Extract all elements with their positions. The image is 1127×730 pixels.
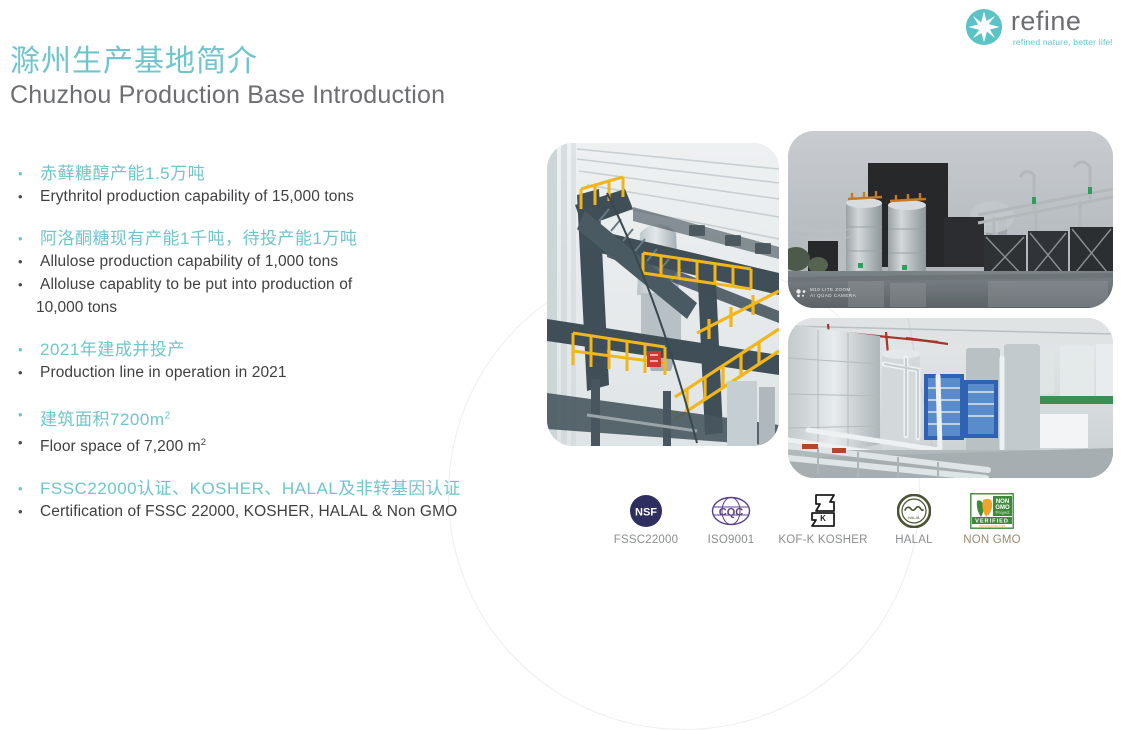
brand-logo: refine refined nature, better life! <box>965 8 1113 47</box>
svg-text:Project: Project <box>995 510 1010 515</box>
svg-text:nongmoproject.org: nongmoproject.org <box>979 524 1006 528</box>
bullet-group-floor-space: • 建筑面积7200m2 • Floor space of 7,200 m2 <box>14 404 534 458</box>
bullet-dot-icon: • <box>14 404 40 426</box>
cert-fssc22000: NSF FSSC22000 <box>600 492 692 546</box>
halal-seal-icon: HALAL <box>897 492 931 530</box>
svg-text:HALAL: HALAL <box>908 515 921 520</box>
bullet-text-en: Alloluse capablity to be put into produc… <box>40 274 352 296</box>
list-item: • FSSC22000认证、KOSHER、HALAL及非转基因认证 <box>14 478 534 500</box>
bullet-text-en: Certification of FSSC 22000, KOSHER, HAL… <box>40 501 457 523</box>
bullet-dot-icon: • <box>14 251 40 273</box>
bullet-dot-icon: • <box>14 501 40 523</box>
bullet-dot-icon: • <box>14 163 40 185</box>
bullet-dot-icon: • <box>14 186 40 208</box>
bullet-dot-icon: • <box>14 339 40 361</box>
cert-label: NON GMO <box>963 534 1021 546</box>
photo-watermark: M10 LITE ZOOM AI QUAD CAMERA <box>796 287 856 300</box>
bullet-group-erythritol: • 赤藓糖醇产能1.5万吨 • Erythritol production ca… <box>14 163 534 208</box>
cert-non-gmo: NON GMO Project VERIFIED nongmoproject.o… <box>952 492 1032 546</box>
bullet-text-en: Floor space of 7,200 m2 <box>40 432 206 458</box>
photo-tank-farm: M10 LITE ZOOM AI QUAD CAMERA <box>788 131 1113 308</box>
bullet-text-continuation: 10,000 tons <box>14 297 534 319</box>
certification-badges: NSF FSSC22000 CQC ISO9001 K KOF-K KOSHER <box>600 492 1032 546</box>
cqc-globe-icon: CQC <box>711 492 751 530</box>
list-item: • Certification of FSSC 22000, KOSHER, H… <box>14 501 534 523</box>
bullet-dot-icon: • <box>14 432 40 454</box>
brand-tagline: refined nature, better life! <box>1013 38 1113 47</box>
nsf-seal-icon: NSF <box>629 492 663 530</box>
page-title-en: Chuzhou Production Base Introduction <box>10 81 445 110</box>
watermark-line-2: AI QUAD CAMERA <box>810 293 856 300</box>
list-item: • 2021年建成并投产 <box>14 339 534 361</box>
bullet-text-en-inner: Floor space of 7,200 m2 <box>40 438 206 455</box>
bullet-group-production-line: • 2021年建成并投产 • Production line in operat… <box>14 339 534 384</box>
svg-text:NSF: NSF <box>635 507 657 519</box>
bullet-text-cn: FSSC22000认证、KOSHER、HALAL及非转基因认证 <box>40 478 461 500</box>
refine-flower-icon <box>965 8 1003 46</box>
cert-label: KOF-K KOSHER <box>778 534 867 546</box>
list-item: • Alloluse capablity to be put into prod… <box>14 274 534 296</box>
brand-name: refine <box>1011 8 1113 35</box>
bullet-text-en: Allulose production capability of 1,000 … <box>40 251 338 273</box>
bullet-text-cn: 建筑面积7200m2 <box>40 404 171 431</box>
bullet-text-cn: 阿洛酮糖现有产能1千吨，待投产能1万吨 <box>40 228 357 250</box>
non-gmo-verified-icon: NON GMO Project VERIFIED nongmoproject.o… <box>970 492 1014 530</box>
bullet-text-cn: 2021年建成并投产 <box>40 339 185 361</box>
cert-kof-k-kosher: K KOF-K KOSHER <box>770 492 876 546</box>
kof-k-kosher-icon: K <box>808 492 838 530</box>
list-item: • Allulose production capability of 1,00… <box>14 251 534 273</box>
cert-label: HALAL <box>895 534 932 546</box>
bullet-dot-icon: • <box>14 362 40 384</box>
list-item: • 赤藓糖醇产能1.5万吨 <box>14 163 534 185</box>
svg-text:K: K <box>820 514 826 523</box>
photo-process-hall <box>788 318 1113 478</box>
list-item: • 建筑面积7200m2 <box>14 404 534 431</box>
list-item: • Floor space of 7,200 m2 <box>14 432 534 458</box>
svg-text:CQC: CQC <box>719 507 744 519</box>
bullet-group-certification: • FSSC22000认证、KOSHER、HALAL及非转基因认证 • Cert… <box>14 478 534 523</box>
camera-dots-icon <box>796 289 807 298</box>
bullet-text-cn: 赤藓糖醇产能1.5万吨 <box>40 163 205 185</box>
bullet-text-en: Production line in operation in 2021 <box>40 362 287 384</box>
list-item: • 阿洛酮糖现有产能1千吨，待投产能1万吨 <box>14 228 534 250</box>
cert-halal: HALAL HALAL <box>876 492 952 546</box>
bullet-text-cn-inner: 建筑面积7200m2 <box>40 410 171 429</box>
list-item: • Production line in operation in 2021 <box>14 362 534 384</box>
bullet-dot-icon: • <box>14 228 40 250</box>
bullet-text-en: Erythritol production capability of 15,0… <box>40 186 354 208</box>
photo-plant-interior <box>547 143 779 446</box>
watermark-line-1: M10 LITE ZOOM <box>810 287 856 294</box>
bullet-dot-icon: • <box>14 274 40 296</box>
page-title-cn: 滁州生产基地简介 <box>10 36 258 80</box>
cert-label: ISO9001 <box>708 534 755 546</box>
list-item: • Erythritol production capability of 15… <box>14 186 534 208</box>
cert-label: FSSC22000 <box>614 534 678 546</box>
bullet-group-allulose: • 阿洛酮糖现有产能1千吨，待投产能1万吨 • Allulose product… <box>14 228 534 319</box>
bullet-list: • 赤藓糖醇产能1.5万吨 • Erythritol production ca… <box>14 163 534 524</box>
bullet-dot-icon: • <box>14 478 40 500</box>
cert-iso9001: CQC ISO9001 <box>692 492 770 546</box>
